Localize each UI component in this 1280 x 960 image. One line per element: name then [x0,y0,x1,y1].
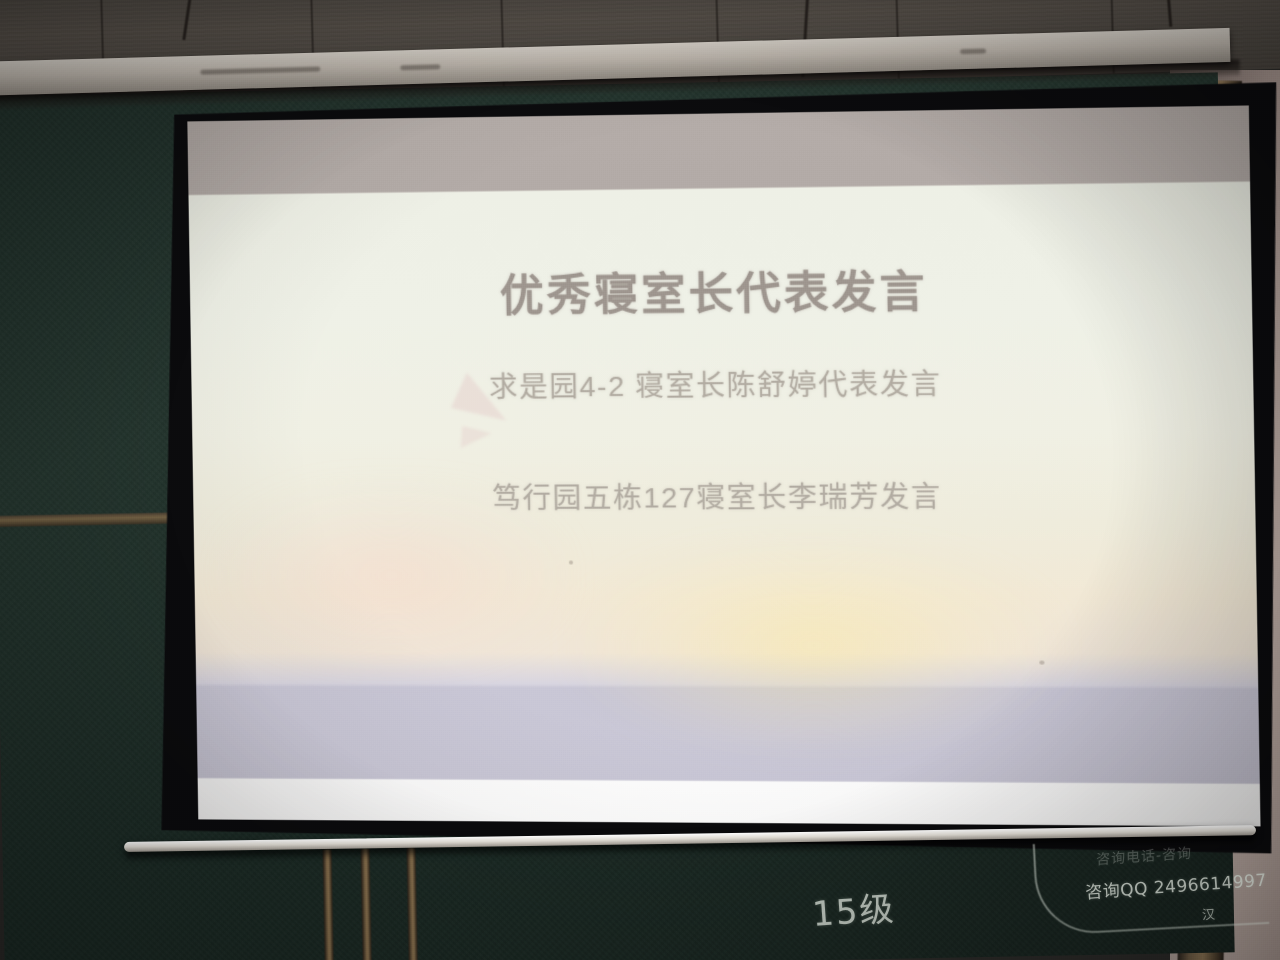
slide-title: 优秀寝室长代表发言 [190,253,1252,326]
housing-mark [960,49,986,55]
projected-slide: 优秀寝室长代表发言 求是园4-2 寝室长陈舒婷代表发言 笃行园五栋127寝室长李… [187,106,1260,826]
slide-bullet-1: 求是园4-2 寝室长陈舒婷代表发言 [191,359,1253,407]
housing-mark [400,64,440,70]
slide-bullet-2: 笃行园五栋127寝室长李瑞芳发言 [193,473,1255,517]
projection-screen[interactable]: 优秀寝室长代表发言 求是园4-2 寝室长陈舒婷代表发言 笃行园五栋127寝室长李… [150,82,1280,853]
screen-vignette [187,106,1260,826]
chalk-grade-label: 15级 [810,881,896,936]
screen-speck [569,561,573,565]
chalk-small-mark: 汉 [1202,904,1216,924]
screen-speck [1040,660,1045,664]
projector-hotspot [568,538,1063,753]
housing-mark [200,67,320,75]
classroom-photo-scene: 优秀寝室长代表发言 求是园4-2 寝室长陈舒婷代表发言 笃行园五栋127寝室长李… [0,0,1280,960]
